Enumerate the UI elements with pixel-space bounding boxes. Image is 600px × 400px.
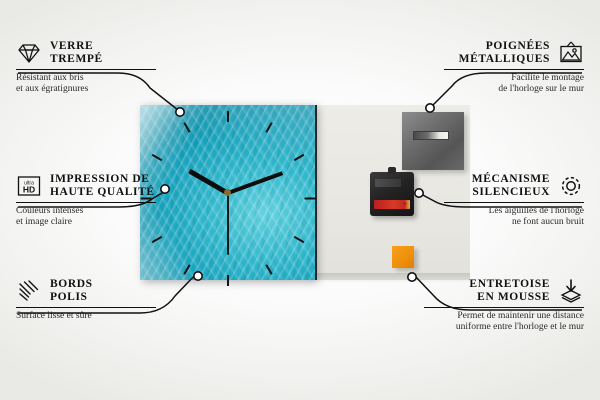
feature-title-line2: SILENCIEUX xyxy=(472,186,550,198)
hanging-frame-icon xyxy=(558,40,584,66)
feature-description: Facilite le montage de l'horloge sur le … xyxy=(444,73,584,95)
feature-rule xyxy=(444,69,584,70)
mechanism-label xyxy=(375,179,401,187)
feature-description: Permet de maintenir une distance uniform… xyxy=(424,311,584,333)
feature-title-line1: ENTRETOISE xyxy=(469,278,550,290)
feature-title-line2: TREMPÉ xyxy=(50,53,103,65)
foam-spacer-arrow-icon xyxy=(558,278,584,304)
battery-plus-terminal: + xyxy=(402,201,408,207)
feature-title-line1: POIGNÉES xyxy=(486,40,550,52)
feature-impression-haute-qualite: ultra HD IMPRESSION DE HAUTE QUALITÉ Cou… xyxy=(16,173,156,228)
wall-clock-product xyxy=(140,105,315,280)
feature-mecanisme-silencieux: MÉCANISME SILENCIEUX Les aiguilles de l'… xyxy=(444,173,584,228)
clock-mechanism-photo: + xyxy=(370,172,414,216)
feature-entretoise-en-mousse: ENTRETOISE EN MOUSSE Permet de maintenir… xyxy=(424,278,584,333)
feature-title-line2: POLIS xyxy=(50,291,88,303)
diamond-icon xyxy=(16,40,42,66)
feature-rule xyxy=(444,202,584,203)
metal-handle-plate-photo xyxy=(402,112,464,170)
feature-title-line2: MÉTALLIQUES xyxy=(459,53,550,65)
feature-title-line1: BORDS xyxy=(50,278,93,290)
polished-edge-icon xyxy=(16,278,42,304)
clock-center-hub xyxy=(224,189,231,196)
feature-description: Résistant aux bris et aux égratignures xyxy=(16,73,156,95)
feature-verre-trempe: VERRE TREMPÉ Résistant aux bris et aux é… xyxy=(16,40,156,95)
feature-title-line2: HAUTE QUALITÉ xyxy=(50,186,155,198)
feature-title-line1: MÉCANISME xyxy=(472,173,550,185)
ultra-hd-badge-icon: ultra HD xyxy=(16,173,42,199)
feature-title-line2: EN MOUSSE xyxy=(477,291,550,303)
feature-rule xyxy=(424,307,584,308)
mechanism-shaft xyxy=(388,167,396,174)
infographic-canvas: + xyxy=(0,0,600,400)
foam-spacer-photo xyxy=(392,246,414,268)
svg-text:HD: HD xyxy=(23,185,35,195)
feature-title-line1: IMPRESSION DE xyxy=(50,173,150,185)
feature-bords-polis: BORDS POLIS Surface lisse et sûre xyxy=(16,278,156,322)
feature-poignees-metalliques: POIGNÉES MÉTALLIQUES Facilite le montage… xyxy=(444,40,584,95)
clock-second-hand xyxy=(227,193,229,255)
feature-rule xyxy=(16,69,156,70)
handle-slot xyxy=(413,131,449,140)
feature-title-line1: VERRE xyxy=(50,40,93,52)
battery: + xyxy=(374,200,410,209)
feature-rule xyxy=(16,307,156,308)
feature-rule xyxy=(16,202,156,203)
gear-icon xyxy=(558,173,584,199)
feature-description: Surface lisse et sûre xyxy=(16,311,156,322)
feature-description: Couleurs intenses et image claire xyxy=(16,206,156,228)
feature-description: Les aiguilles de l'horloge ne font aucun… xyxy=(444,206,584,228)
